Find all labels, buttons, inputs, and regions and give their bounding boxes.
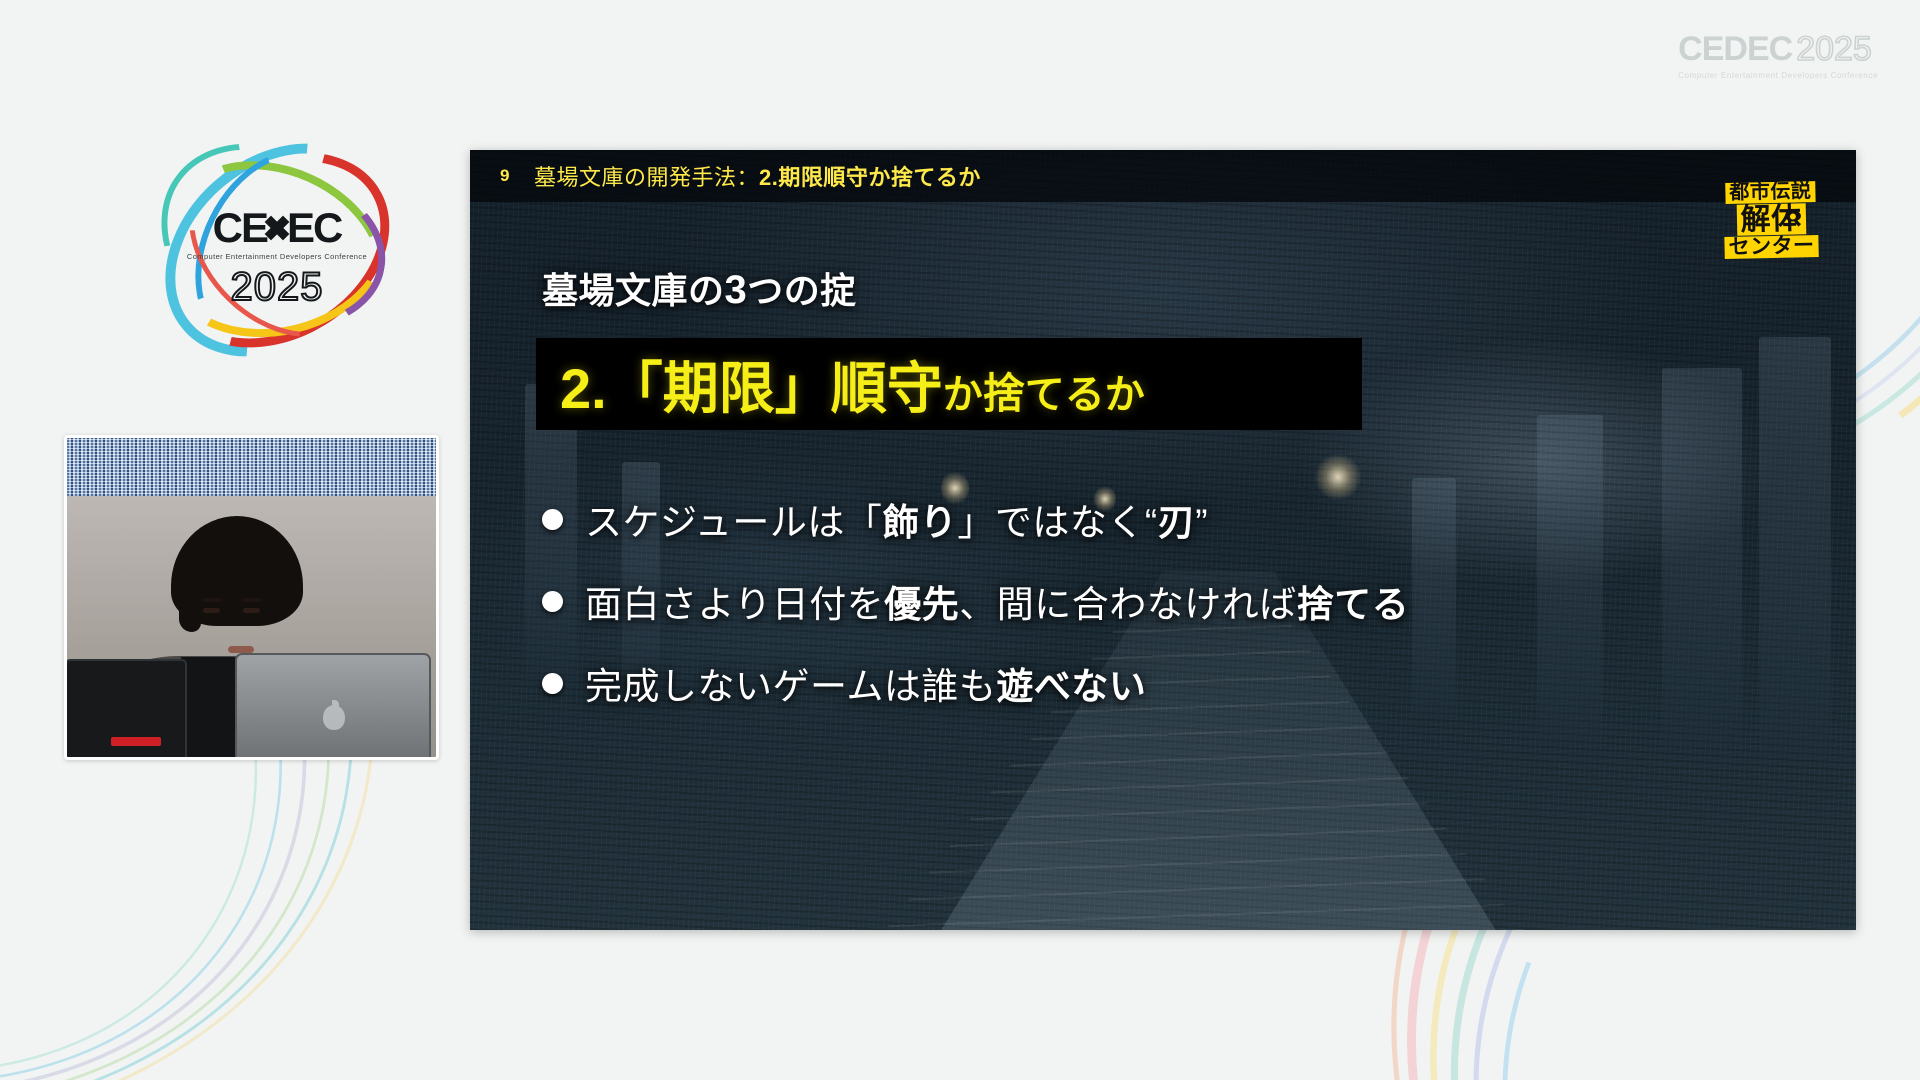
cedec-logo: CEEC Computer Entertainment Developers C…	[152, 155, 402, 345]
speaker-eye-left	[203, 608, 220, 613]
logo-text: CEEC Computer Entertainment Developers C…	[152, 207, 402, 310]
bullet-text: 面白さより日付を優先、間に合わなければ捨てる	[585, 574, 1409, 628]
bullet-text: 完成しないゲームは誰も遊べない	[585, 656, 1146, 710]
bullet-seg-a: 完成しないゲームは誰も	[585, 666, 996, 707]
podium	[181, 657, 243, 760]
presentation-stage: CEDEC 2025 Computer Entertainment Develo…	[0, 0, 1920, 1080]
bullet-dot-icon	[542, 591, 563, 612]
slide-header-emphasis: 2.期限順守か捨てるか	[759, 165, 981, 190]
speaker-brow-right	[242, 598, 262, 602]
logo-year: 2025	[152, 265, 402, 310]
speaker-hair	[171, 516, 303, 626]
subheading-number: 3	[725, 268, 748, 312]
bullet-seg-a: 面白さより日付を	[585, 584, 884, 625]
speaker-eye-right	[243, 608, 260, 613]
bullet-seg-e: ”	[1195, 502, 1208, 543]
logo-x-icon	[265, 215, 289, 241]
laptop-red-tag	[111, 737, 161, 746]
slide-bullet-list: スケジュールは「飾り」ではなく“刃” 面白さより日付を優先、間に合わなければ捨て…	[542, 492, 1816, 738]
cedec-watermark: CEDEC 2025 Computer Entertainment Develo…	[1678, 30, 1878, 80]
slide-page-number: 9	[500, 166, 534, 186]
laptop-right	[235, 653, 431, 760]
bullet-seg-c: 、間に合わなければ	[959, 584, 1297, 625]
apple-logo-icon	[323, 705, 345, 730]
laptop-left	[65, 659, 187, 760]
watermark-year: 2025	[1796, 30, 1872, 69]
bullet-text: スケジュールは「飾り」ではなく“刃”	[585, 492, 1208, 546]
watermark-row: CEDEC 2025	[1678, 30, 1878, 69]
bullet-seg-b: 飾り	[882, 502, 957, 543]
logo-subtitle: Computer Entertainment Developers Confer…	[152, 252, 402, 261]
bullet-dot-icon	[542, 673, 563, 694]
bullet-dot-icon	[542, 509, 563, 530]
watermark-subtitle: Computer Entertainment Developers Confer…	[1678, 71, 1878, 80]
logo-brand-ec: EC	[287, 207, 341, 249]
bullet-seg-d: 捨てる	[1297, 584, 1410, 625]
camera-noise-band	[67, 438, 436, 500]
slide-subheading: 墓場文庫の3つの掟	[542, 262, 857, 314]
slide-header-prefix: 墓場文庫の開発手法：	[534, 165, 759, 190]
logo-brand-ce: CE	[213, 207, 267, 249]
title-main: 「期限」順守	[607, 357, 943, 420]
bullet-seg-c: 」ではなく“	[957, 502, 1157, 543]
bullet-seg-a: スケジュールは「	[585, 502, 882, 543]
watermark-brand: CEDEC	[1678, 30, 1792, 69]
logo-brand: CEEC	[152, 207, 402, 249]
title-sute: 捨	[983, 370, 1025, 417]
slide-title: 2.「期限」順守か捨てるか	[536, 344, 1145, 425]
subheading-post: つの掟	[747, 270, 857, 311]
list-item: 面白さより日付を優先、間に合わなければ捨てる	[542, 574, 1816, 628]
title-teruka: てるか	[1025, 373, 1145, 417]
speaker-mouth	[228, 646, 254, 653]
slide-title-bar: 2.「期限」順守か捨てるか	[536, 338, 1362, 430]
speaker-camera-panel	[64, 435, 439, 760]
subheading-pre: 墓場文庫の	[542, 270, 725, 311]
speaker-brow-left	[202, 598, 222, 602]
slide-header-bar: 9 墓場文庫の開発手法：2.期限順守か捨てるか	[470, 150, 1856, 202]
slide-body: 墓場文庫の3つの掟 2.「期限」順守か捨てるか スケジュールは「飾り」ではなく“…	[470, 202, 1856, 930]
presentation-slide: 9 墓場文庫の開発手法：2.期限順守か捨てるか 都市伝説 解体 センター 墓場文…	[470, 150, 1856, 930]
list-item: スケジュールは「飾り」ではなく“刃”	[542, 492, 1816, 546]
bullet-seg-d: 刃	[1158, 502, 1196, 543]
slide-header-title: 墓場文庫の開発手法：2.期限順守か捨てるか	[534, 160, 981, 192]
bullet-seg-b: 優先	[884, 584, 959, 625]
title-ka: か	[943, 373, 983, 417]
title-number: 2.	[560, 357, 607, 420]
bullet-seg-b: 遊べない	[996, 666, 1146, 707]
badge-line-1: 都市伝説	[1725, 181, 1815, 204]
speaker-head	[171, 516, 303, 676]
list-item: 完成しないゲームは誰も遊べない	[542, 656, 1816, 710]
